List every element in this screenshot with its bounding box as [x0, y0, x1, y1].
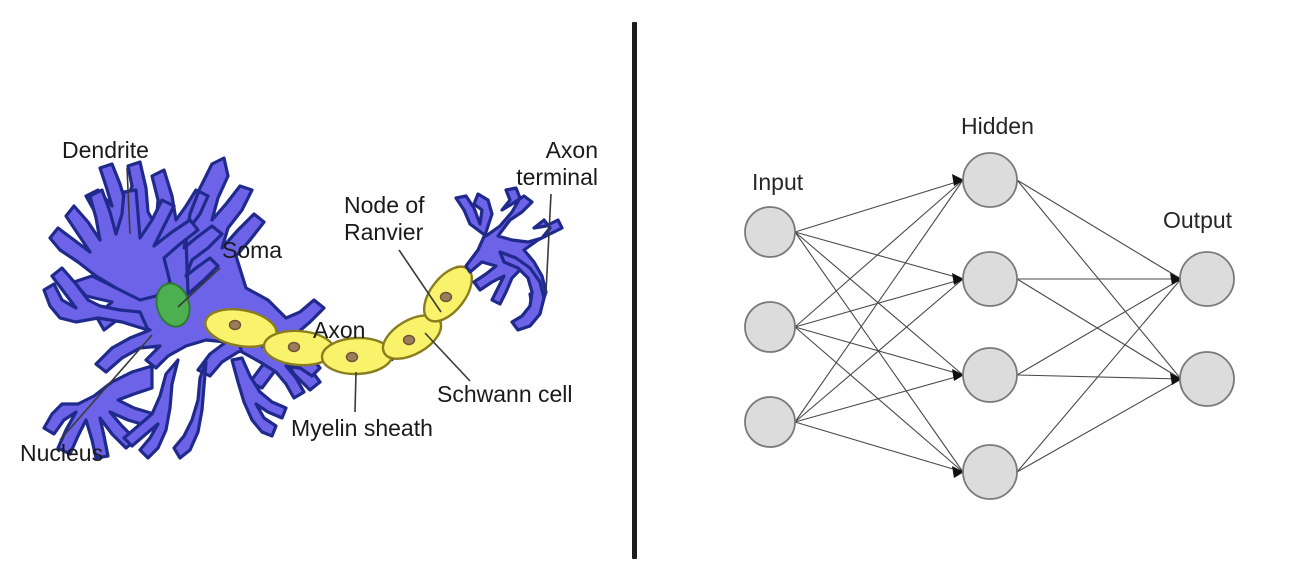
- neural-network-svg: Input Hidden Output: [637, 0, 1292, 580]
- edge-i1-h1: [795, 180, 963, 232]
- edge-i3-h4: [795, 422, 963, 472]
- label-node-of-ranvier-line2: Ranvier: [344, 219, 424, 245]
- neural-network-panel: Input Hidden Output: [637, 0, 1292, 580]
- schwann-nucleus-3: [347, 353, 358, 362]
- input-layer-nodes: [745, 207, 795, 447]
- label-output-layer: Output: [1163, 207, 1233, 233]
- label-soma: Soma: [222, 237, 282, 263]
- output-node-2[interactable]: [1180, 352, 1234, 406]
- hidden-node-4[interactable]: [963, 445, 1017, 499]
- axon-terminal-group: [456, 188, 562, 330]
- output-node-1[interactable]: [1180, 252, 1234, 306]
- leader-myelin-sheath: [355, 372, 356, 412]
- figure-canvas: Dendrite Soma Nucleus Axon Myelin sheath…: [0, 0, 1292, 580]
- hidden-node-2[interactable]: [963, 252, 1017, 306]
- label-axon-terminal-line1: Axon: [546, 137, 598, 163]
- edge-i3-h3: [795, 375, 963, 422]
- edges-input-to-hidden: [795, 180, 963, 472]
- schwann-nucleus-1: [230, 321, 241, 330]
- output-layer-nodes: [1180, 252, 1234, 406]
- schwann-nucleus-5: [441, 293, 452, 302]
- input-node-3[interactable]: [745, 397, 795, 447]
- label-axon-terminal-line2: terminal: [516, 164, 598, 190]
- input-node-1[interactable]: [745, 207, 795, 257]
- schwann-nucleus-4: [404, 336, 415, 345]
- edge-i2-h4: [795, 327, 963, 472]
- label-node-of-ranvier-line1: Node of: [344, 192, 425, 218]
- hidden-node-1[interactable]: [963, 153, 1017, 207]
- edge-i1-h4: [795, 232, 963, 472]
- hidden-node-3[interactable]: [963, 348, 1017, 402]
- edge-arrowheads-group: [952, 174, 1182, 478]
- biological-neuron-panel: Dendrite Soma Nucleus Axon Myelin sheath…: [0, 0, 634, 580]
- label-input-layer: Input: [752, 169, 804, 195]
- label-myelin-sheath: Myelin sheath: [291, 415, 433, 441]
- edge-h1-o1: [1017, 180, 1181, 279]
- hidden-layer-nodes: [963, 153, 1017, 499]
- label-axon: Axon: [313, 317, 365, 343]
- schwann-nucleus-2: [289, 343, 300, 352]
- input-node-2[interactable]: [745, 302, 795, 352]
- edges-hidden-to-output: [1017, 180, 1181, 472]
- edge-i2-h2: [795, 279, 963, 327]
- edge-h4-o2: [1017, 379, 1181, 472]
- leader-schwann-cell: [425, 333, 470, 381]
- dendrite-bottom-mid-shape: [174, 362, 206, 458]
- edge-i1-h2: [795, 232, 963, 279]
- label-schwann-cell: Schwann cell: [437, 381, 573, 407]
- label-hidden-layer: Hidden: [961, 113, 1034, 139]
- leader-axon-terminal: [546, 194, 551, 292]
- leader-node-of-ranvier: [399, 250, 441, 312]
- label-nucleus: Nucleus: [20, 440, 103, 466]
- label-dendrite: Dendrite: [62, 137, 149, 163]
- neuron-svg: Dendrite Soma Nucleus Axon Myelin sheath…: [0, 0, 634, 580]
